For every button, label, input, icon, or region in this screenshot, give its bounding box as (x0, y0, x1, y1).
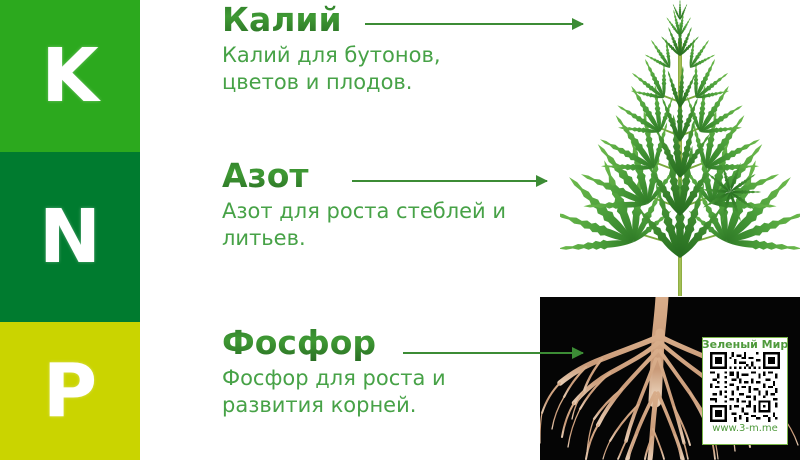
watermark-title: Зеленый Мир (702, 339, 788, 351)
phosphorus-bar: P (0, 322, 140, 460)
qr-code-icon (710, 352, 780, 422)
nutrient-title-phosphorus: Фосфор (222, 325, 376, 361)
nutrient-block-potassium: Калий Калий для бутонов, цветов и плодов… (222, 2, 441, 96)
watermark: Зеленый Мир (702, 337, 788, 445)
potassium-bar: K (0, 0, 140, 152)
cannabis-plant-illustration (560, 0, 800, 316)
potassium-letter: K (41, 39, 98, 113)
nutrient-block-nitrogen: Азот Азот для роста стеблей и литьев. (222, 158, 506, 252)
nutrient-description-nitrogen: Азот для роста стеблей и литьев. (222, 198, 506, 252)
nutrient-description-potassium: Калий для бутонов, цветов и плодов. (222, 42, 441, 96)
nutrient-title-nitrogen: Азот (222, 158, 309, 194)
nutrient-title-potassium: Калий (222, 2, 342, 38)
nitrogen-letter: N (39, 200, 101, 274)
arrow-head (536, 175, 548, 187)
nutrient-block-phosphorus: Фосфор Фосфор для роста и развития корне… (222, 325, 446, 419)
phosphorus-letter: P (43, 354, 97, 428)
nitrogen-bar: N (0, 152, 140, 322)
watermark-url: www.3-m.me (712, 423, 778, 434)
infographic-canvas: K N P Калий Калий для бутонов, цветов и … (0, 0, 800, 460)
nutrient-description-phosphorus: Фосфор для роста и развития корней. (222, 365, 446, 419)
